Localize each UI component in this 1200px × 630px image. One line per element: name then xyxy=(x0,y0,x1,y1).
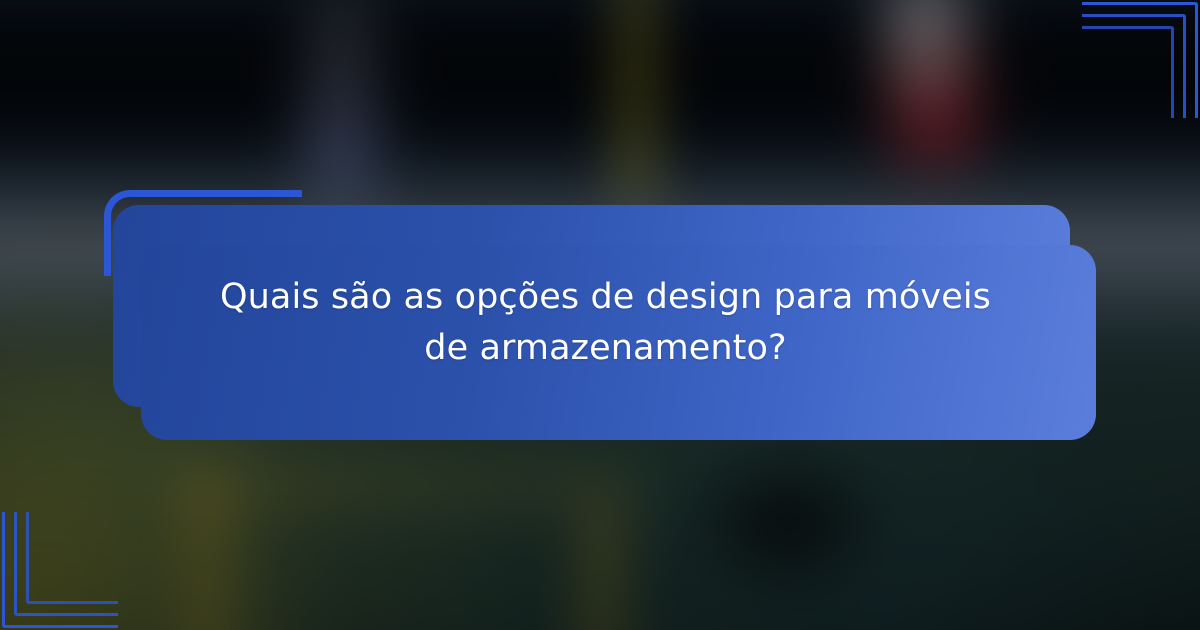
card-text-area: Quais são as opções de design para móvei… xyxy=(141,205,1070,440)
question-card: Quais são as opções de design para móvei… xyxy=(0,0,1200,630)
poster-canvas: Quais são as opções de design para móvei… xyxy=(0,0,1200,630)
question-title: Quais são as opções de design para móvei… xyxy=(197,272,1014,374)
